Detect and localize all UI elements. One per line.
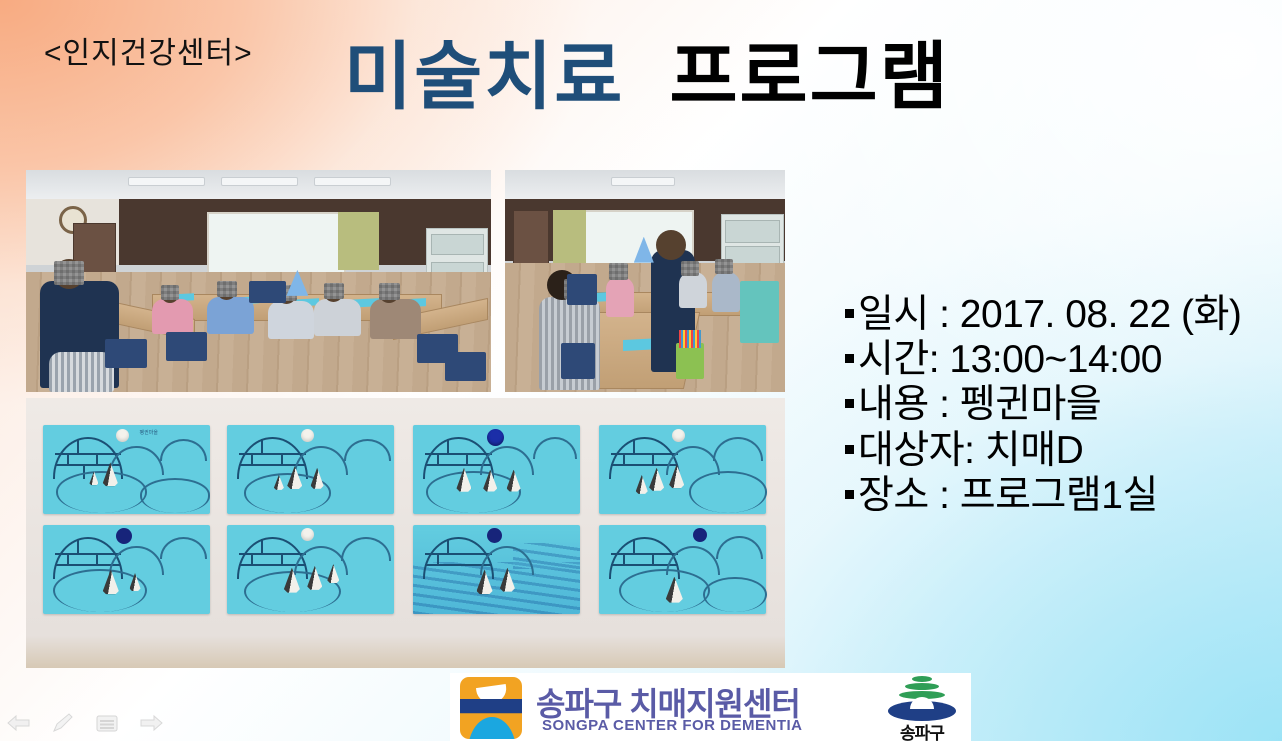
detail-location: 장소 : 프로그램1실: [845, 473, 1282, 518]
slide-subtitle: <인지건강센터>: [44, 28, 253, 72]
bullet-square-icon: [845, 309, 854, 318]
detail-target: 대상자: 치매D: [845, 428, 1282, 473]
songpa-dementia-center-mark-icon: [460, 677, 522, 739]
slideshow-toolbar[interactable]: [6, 711, 164, 735]
bullet-square-icon: [845, 354, 854, 363]
photo-classroom-wide: [26, 170, 491, 392]
photo-artwork-display: 펭귄마을: [26, 398, 785, 668]
slide-title: 미술치료 프로그램: [344, 38, 950, 116]
detail-date: 일시 : 2017. 08. 22 (화): [845, 292, 1282, 337]
detail-content: 내용 : 펭귄마을: [845, 382, 1282, 427]
bullet-square-icon: [845, 399, 854, 408]
title-part-program: 프로그램: [669, 35, 949, 118]
presentation-slide: <인지건강센터> 미술치료 프로그램: [0, 0, 1282, 741]
title-part-art-therapy: 미술치료: [344, 35, 624, 118]
photo-classroom-side: [505, 170, 785, 392]
logo-english-text: SONGPA CENTER FOR DEMENTIA: [542, 717, 803, 734]
organization-logo-bar: 송파구 치매지원센터 SONGPA CENTER FOR DEMENTIA 송파…: [450, 673, 971, 741]
emblem-label: 송파구: [882, 719, 962, 741]
program-details-list: 일시 : 2017. 08. 22 (화) 시간: 13:00~14:00 내용…: [845, 292, 1282, 518]
previous-slide-icon[interactable]: [6, 711, 32, 735]
songpa-gu-emblem-icon: 송파구: [882, 675, 962, 739]
bullet-square-icon: [845, 490, 854, 499]
slide-menu-icon[interactable]: [94, 711, 120, 735]
detail-time: 시간: 13:00~14:00: [845, 337, 1282, 382]
next-slide-icon[interactable]: [138, 711, 164, 735]
bullet-square-icon: [845, 445, 854, 454]
pen-tool-icon[interactable]: [50, 711, 76, 735]
